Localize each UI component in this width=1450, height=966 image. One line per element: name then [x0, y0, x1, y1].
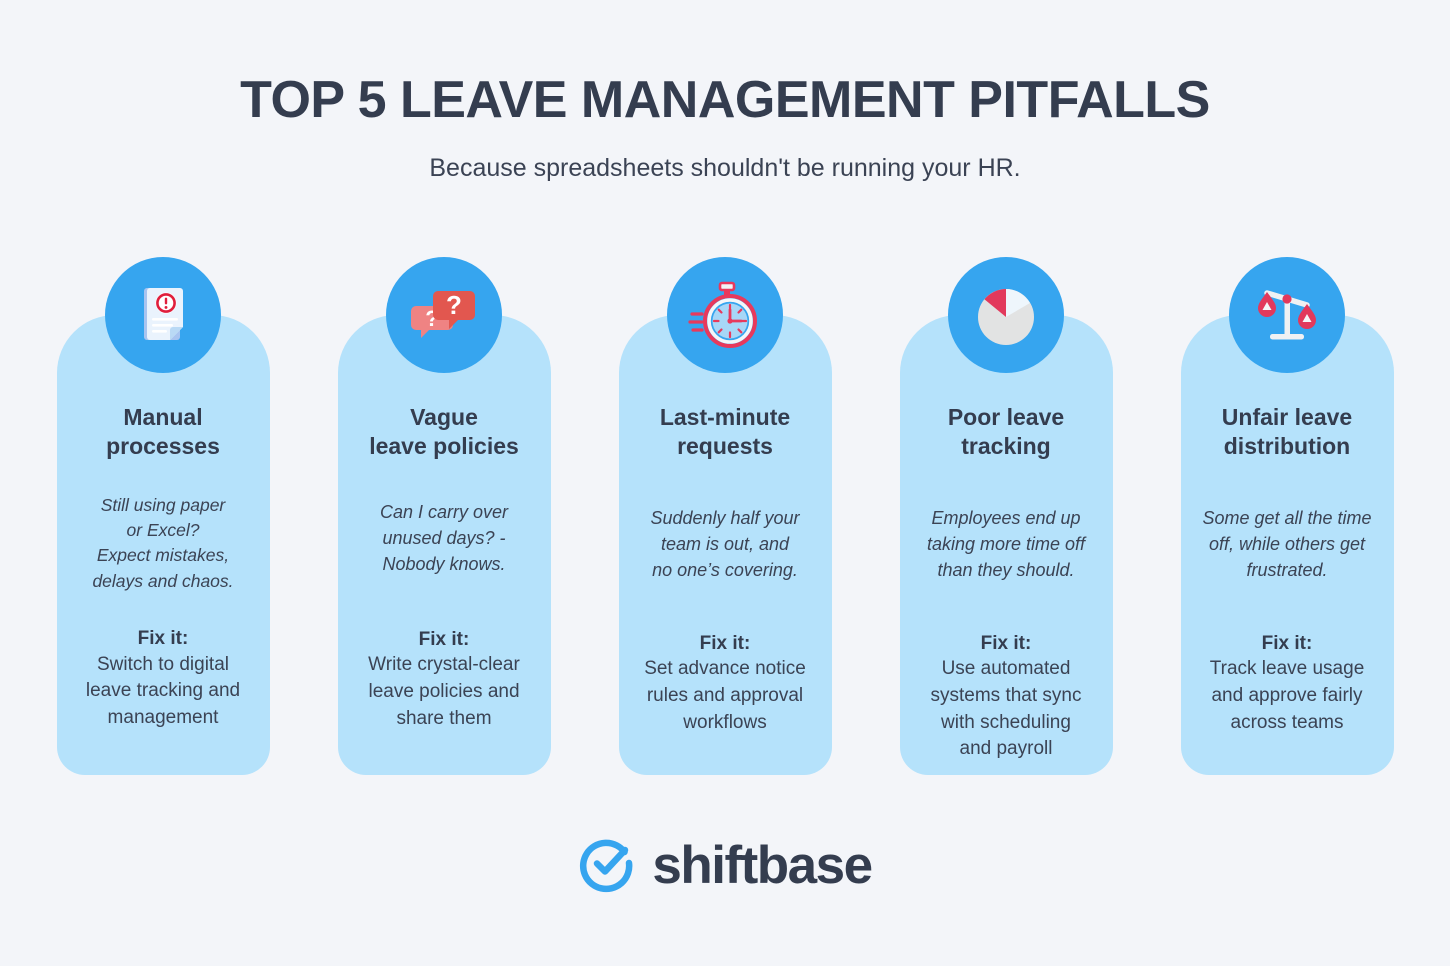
card-description: Can I carry over unused days? - Nobody k…: [344, 499, 545, 577]
infographic-page: TOP 5 LEAVE MANAGEMENT PITFALLS Because …: [0, 0, 1450, 966]
fix-text: Use automated systems that sync with sch…: [906, 656, 1107, 762]
pitfall-card-last-minute-requests: Last-minute requests Suddenly half your …: [619, 315, 832, 775]
stopwatch-icon: [667, 257, 783, 373]
check-circle-icon: [578, 833, 638, 898]
header: TOP 5 LEAVE MANAGEMENT PITFALLS Because …: [0, 0, 1450, 183]
page-title: TOP 5 LEAVE MANAGEMENT PITFALLS: [0, 72, 1450, 129]
card-fix: Fix it: Write crystal-clear leave polici…: [344, 627, 545, 732]
card-description: Still using paper or Excel? Expect mista…: [63, 493, 264, 595]
card-fix: Fix it: Set advance notice rules and app…: [625, 631, 826, 736]
pitfall-card-manual-processes: Manual processes Still using paper or Ex…: [57, 315, 270, 775]
card-title: Vague leave policies: [344, 403, 545, 461]
card-fix: Fix it: Use automated systems that sync …: [906, 631, 1107, 763]
fix-text: Switch to digital leave tracking and man…: [63, 652, 264, 732]
card-title: Manual processes: [63, 403, 264, 461]
pitfall-card-list: Manual processes Still using paper or Ex…: [0, 315, 1450, 775]
card-title: Poor leave tracking: [906, 403, 1107, 461]
card-description: Some get all the time off, while others …: [1187, 505, 1388, 583]
pitfall-card-vague-leave-policies: ? ? Vague leave policies Can I carry ove…: [338, 315, 551, 775]
fix-text: Set advance notice rules and approval wo…: [625, 656, 826, 736]
card-title: Last-minute requests: [625, 403, 826, 461]
fix-label: Fix it:: [344, 627, 545, 653]
fix-text: Write crystal-clear leave policies and s…: [344, 652, 545, 732]
svg-text:?: ?: [446, 290, 462, 320]
page-subtitle: Because spreadsheets shouldn't be runnin…: [0, 153, 1450, 183]
fix-label: Fix it:: [906, 631, 1107, 657]
fix-label: Fix it:: [63, 626, 264, 652]
card-fix: Fix it: Switch to digital leave tracking…: [63, 626, 264, 731]
fix-text: Track leave usage and approve fairly acr…: [1187, 656, 1388, 736]
pitfall-card-unfair-leave-distribution: Unfair leave distribution Some get all t…: [1181, 315, 1394, 775]
card-title: Unfair leave distribution: [1187, 403, 1388, 461]
speech-bubbles-question-icon: ? ?: [386, 257, 502, 373]
pitfall-card-poor-leave-tracking: Poor leave tracking Employees end up tak…: [900, 315, 1113, 775]
brand-logo: shiftbase: [0, 833, 1450, 898]
pie-chart-icon: [948, 257, 1064, 373]
fix-label: Fix it:: [1187, 631, 1388, 657]
brand-logo-text: shiftbase: [652, 839, 871, 892]
card-description: Suddenly half your team is out, and no o…: [625, 505, 826, 583]
card-fix: Fix it: Track leave usage and approve fa…: [1187, 631, 1388, 736]
unbalanced-scales-icon: [1229, 257, 1345, 373]
card-description: Employees end up taking more time off th…: [906, 505, 1107, 583]
document-alert-icon: [105, 257, 221, 373]
fix-label: Fix it:: [625, 631, 826, 657]
